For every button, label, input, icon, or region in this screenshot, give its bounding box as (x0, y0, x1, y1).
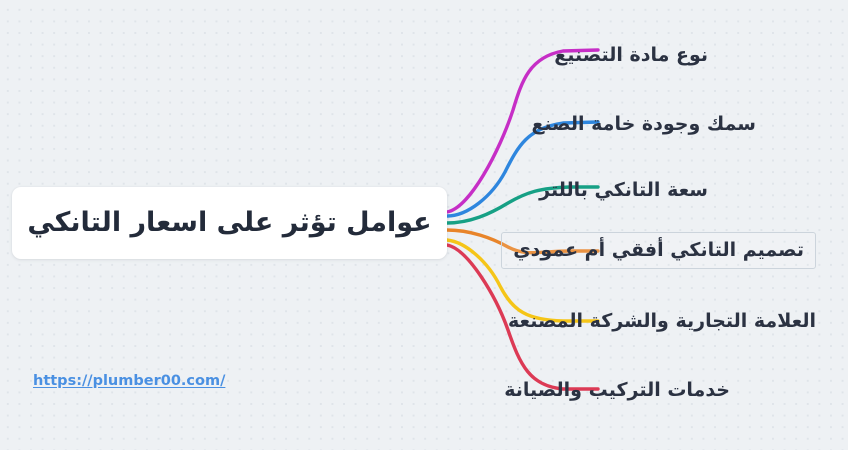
branch-node-3[interactable]: سعة التانكي باللتر (539, 173, 708, 207)
branch-node-6[interactable]: خدمات التركيب والصيانة (504, 373, 730, 407)
branch-node-label: العلامة التجارية والشركة المصنعة (508, 312, 816, 331)
branch-node-label: سمك وجودة خامة الصنع (531, 115, 756, 134)
branch-node-label: سعة التانكي باللتر (539, 181, 708, 200)
source-url-link[interactable]: https://plumber00.com/ (33, 373, 225, 389)
branch-node-label: تصميم التانكي أفقي أم عمودي (513, 241, 804, 260)
branch-node-1[interactable]: نوع مادة التصنيع (554, 38, 708, 72)
root-node-label: عوامل تؤثر على اسعار التانكي (27, 206, 431, 240)
branch-node-2[interactable]: سمك وجودة خامة الصنع (531, 107, 756, 141)
mindmap-canvas: عوامل تؤثر على اسعار التانكي نوع مادة ال… (0, 0, 848, 450)
branch-node-label: خدمات التركيب والصيانة (504, 381, 730, 400)
branch-node-5[interactable]: العلامة التجارية والشركة المصنعة (508, 304, 816, 338)
branch-node-4[interactable]: تصميم التانكي أفقي أم عمودي (501, 232, 816, 269)
branch-node-label: نوع مادة التصنيع (554, 46, 708, 65)
root-node[interactable]: عوامل تؤثر على اسعار التانكي (12, 187, 447, 259)
